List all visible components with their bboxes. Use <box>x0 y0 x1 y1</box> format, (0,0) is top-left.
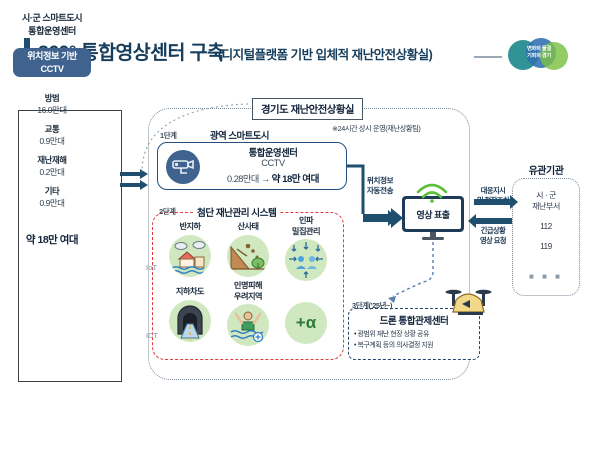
stage2-title: 첨단 재난관리 시스템 <box>193 205 280 219</box>
cctv-total-count: 약 18만 여대 <box>0 232 104 247</box>
stat-label: 방범 <box>0 92 104 104</box>
landslide-glyph <box>227 235 269 277</box>
cctv-camera-icon <box>166 150 200 184</box>
location-cctv-chip: 위치정보 기반 CCTV <box>13 48 91 77</box>
stat-label: 교통 <box>0 123 104 135</box>
drowning-person-glyph <box>227 304 269 346</box>
stage1-growth-line: 0.28만대 → 약 18만 여대 <box>200 171 346 185</box>
gyeonggi-logo: 변화의 물결 기회의 경기 <box>508 38 570 72</box>
city-county-panel-title: 시·군 스마트도시 통합운영센터 <box>0 12 104 38</box>
drone-center-bullets: • 광범위 재난 현장 상황 공유 • 복구계획 등의 의사결정 지원 <box>354 330 480 351</box>
cctv-stats-list: 방범 16.0만대 교통 0.9만대 재난재해 0.2만대 기타 0.9만대 <box>0 92 104 216</box>
list-item: • 광범위 재난 현장 상황 공유 <box>354 330 480 341</box>
stat-value: 0.9만대 <box>0 135 104 147</box>
drowning-person-icon <box>227 304 269 346</box>
underpass-tunnel-glyph <box>169 300 211 342</box>
stat-label: 재난재해 <box>0 154 104 166</box>
agencies-more-dots: ■ ■ ■ <box>512 272 580 281</box>
location-transfer-label: 위치정보 자동전송 <box>358 176 402 196</box>
stage1-before-value: 0.28만대 <box>227 174 259 184</box>
tile-label: 반지하 <box>164 222 216 233</box>
list-item: 인명피해 우려지역 <box>222 281 274 346</box>
list-item: 방범 16.0만대 <box>0 92 104 116</box>
stage2-tag: 2단계 <box>159 206 176 217</box>
stage1-line2: CCTV <box>205 158 341 168</box>
list-item: +α <box>280 300 332 344</box>
double-arrow-icon <box>120 169 148 190</box>
list-item: 인파 밀집관리 <box>280 216 332 281</box>
emergency-request-label: 긴급상황 영상 요청 <box>472 226 514 245</box>
crowd-density-icon <box>285 239 327 281</box>
stage1-after-value: 약 18만 여대 <box>272 174 319 185</box>
list-item: 112 <box>512 221 580 232</box>
iot-label: IoT <box>146 263 157 272</box>
stage1-line1: 통합운영센터 <box>205 145 341 159</box>
stat-label: 기타 <box>0 185 104 197</box>
stage3-tag: 3단계(ʼ25년~) <box>352 300 392 311</box>
stat-value: 16.0만대 <box>0 104 104 116</box>
situation-room-title: 경기도 재난안전상황실 <box>252 98 363 120</box>
header-divider-rule <box>474 56 502 58</box>
list-item: 반지하 <box>164 222 216 277</box>
tile-label: 인파 밀집관리 <box>280 216 332 237</box>
list-item: 교통 0.9만대 <box>0 123 104 147</box>
flooded-house-glyph <box>169 235 211 277</box>
list-item: 지하차도 <box>164 287 216 342</box>
list-item: 재난재해 0.2만대 <box>0 154 104 178</box>
infographic-root: 360° 통합영상센터 구축 (디지털플랫폼 기반 입체적 재난안전상황실) 변… <box>0 0 600 450</box>
cctv-camera-glyph <box>166 150 200 184</box>
tile-label: 산사태 <box>222 222 274 233</box>
list-item: 시 · 군 재난부서 <box>512 190 580 212</box>
underpass-tunnel-icon <box>169 300 211 342</box>
logo-slogan: 변화의 물결 기회의 경기 <box>508 46 570 60</box>
drone-center-title: 드론 통합관제센터 <box>348 313 480 327</box>
agencies-title: 유관기관 <box>508 162 584 177</box>
stage1-heading: 광역 스마트도시 <box>210 128 269 142</box>
landslide-icon <box>227 235 269 277</box>
crowd-density-glyph <box>285 239 327 281</box>
flooded-house-icon <box>169 235 211 277</box>
monitor-base <box>422 237 444 240</box>
video-display-monitor: 영상 표출 <box>402 196 464 240</box>
list-item: 산사태 <box>222 222 274 277</box>
stat-value: 0.2만대 <box>0 166 104 178</box>
list-item: 119 <box>512 241 580 252</box>
page-subtitle: (디지털플랫폼 기반 입체적 재난안전상황실) <box>218 39 432 71</box>
list-item: • 복구계획 등의 의사결정 지원 <box>354 341 480 352</box>
operation-note: ※24시간 상시 운영(재난상황팀) <box>332 124 420 134</box>
response-directive-label: 대응지시 및 현장조치 <box>472 186 514 205</box>
growth-arrow-icon: → <box>261 174 270 184</box>
tile-label: 지하차도 <box>164 287 216 298</box>
ict-label: ICT <box>146 331 158 340</box>
stage1-tag: 1단계 <box>160 130 177 141</box>
agencies-list: 시 · 군 재난부서 112 119 <box>512 190 580 261</box>
list-item: 기타 0.9만대 <box>0 185 104 209</box>
tile-label: 인명피해 우려지역 <box>222 281 274 302</box>
plus-alpha-icon: +α <box>285 302 327 344</box>
monitor-label: 영상 표출 <box>405 208 461 221</box>
stat-value: 0.9만대 <box>0 197 104 209</box>
